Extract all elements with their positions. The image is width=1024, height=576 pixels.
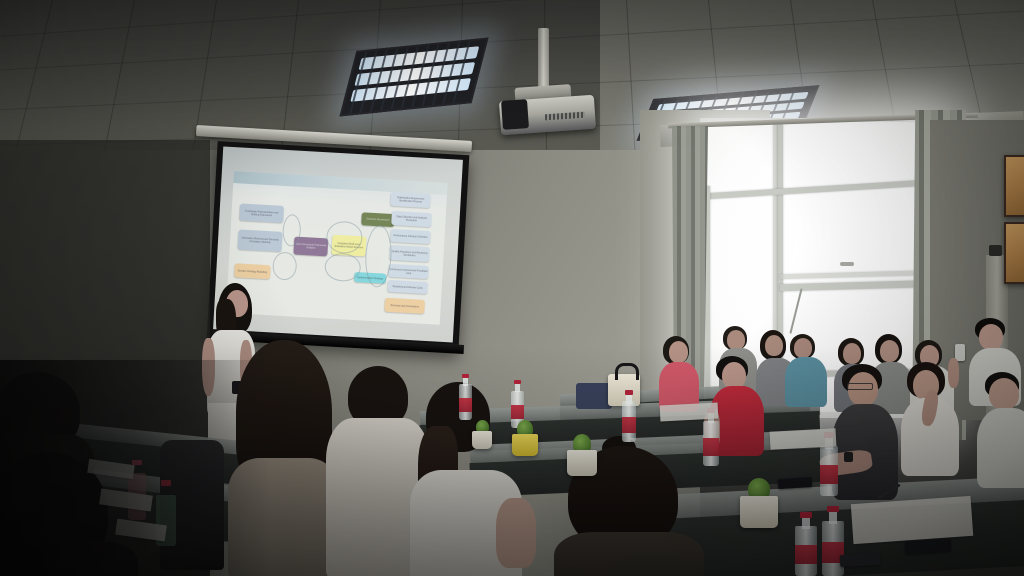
bottle-cap (827, 506, 838, 512)
attendee-torso (977, 408, 1024, 488)
attendee-head (880, 340, 899, 362)
window-handle[interactable] (840, 262, 854, 266)
flower-pot (740, 496, 778, 528)
attendee-head (979, 324, 1003, 350)
bottle-cap (800, 512, 811, 518)
bottle-label (820, 465, 838, 484)
wall-sconce (989, 245, 1002, 256)
framed-picture-top (1004, 155, 1024, 217)
smartphone[interactable] (840, 553, 881, 567)
attendee-torso (785, 357, 827, 407)
handbag-handle (615, 363, 639, 380)
projected-slide: Knowledge Representation and Sharing Fra… (226, 171, 448, 325)
potted-plant-white (567, 434, 597, 474)
potted-plant-yellow (512, 420, 538, 454)
classroom-scene: Winbright Knowledge Representation and S… (0, 0, 1024, 576)
attendee-head (989, 378, 1019, 410)
slide-node-left-bottom: Domain Ontology Modelling (234, 263, 271, 279)
slide-node-right-2: Data Collection and Analysis Procedure (391, 211, 432, 227)
attendee-head (794, 338, 812, 358)
potted-plant-front (740, 478, 778, 526)
wristwatch (844, 452, 853, 462)
attendee-arm (496, 498, 536, 568)
bottle-label (459, 398, 472, 412)
ceiling-tile-line (626, 0, 637, 175)
potted-plant-right (472, 420, 492, 448)
projector-lens-icon (501, 99, 529, 130)
attendee-head (727, 330, 745, 350)
bottle-neck (515, 383, 520, 393)
bottle-cap (462, 374, 469, 378)
attendee-head (843, 343, 861, 364)
presenter-arm-left (202, 338, 215, 396)
projector-mount-pole (538, 28, 549, 90)
framed-picture-bottom (1004, 222, 1024, 284)
bottle-cap (514, 380, 521, 384)
attendee-arm-raised (948, 358, 959, 388)
slide-connector-5 (364, 225, 393, 288)
attendee-head (669, 341, 688, 363)
bottle-label (511, 405, 524, 419)
attendee-torso (228, 458, 340, 576)
flower-pot (567, 450, 597, 476)
paper-sheet[interactable] (770, 428, 837, 449)
slide-node-right-4: Quality Assurance and Monitoring Mechani… (389, 245, 430, 262)
glasses-icon (847, 383, 873, 390)
attendee-torso (554, 532, 704, 576)
paper-sheet[interactable] (660, 402, 719, 421)
slide-header-band (233, 171, 447, 195)
slide-node-right-1: Stakeholder Requirement Identification P… (390, 192, 431, 208)
bottle-neck (829, 510, 838, 524)
bottle-label (703, 438, 719, 455)
paper-sheet[interactable] (851, 496, 973, 544)
slide-node-right-6: Reporting and Review Cycle (387, 280, 428, 294)
attendee-torso (0, 542, 138, 576)
flower-pot (472, 431, 492, 449)
slide-node-right-5: Continuous Improvement Feedback Loop (388, 264, 429, 279)
bottle-neck (463, 377, 468, 386)
flower-pot (512, 434, 538, 456)
ceiling-tile-row-line (1, 11, 1023, 71)
bottle-label (795, 545, 817, 564)
attendee-head (765, 335, 783, 356)
slide-connector-4 (272, 251, 298, 280)
bottle-cap (625, 390, 632, 395)
water-bottle[interactable] (795, 512, 817, 576)
slide-node-right-7: Summary and Conclusions (384, 298, 425, 314)
attendee-head (722, 362, 746, 389)
water-bottle[interactable] (459, 374, 472, 420)
navy-bag (576, 383, 612, 409)
slide-node-left-mid: Information Retrieval and Semantic Annot… (238, 229, 283, 251)
slide-node-right-3: Performance Indicator Definition (390, 229, 431, 244)
tumbler-cap (161, 480, 171, 486)
slide-node-left-top: Knowledge Representation and Sharing Fra… (239, 203, 284, 222)
water-bottle[interactable] (622, 390, 636, 442)
bottle-label (622, 417, 636, 433)
